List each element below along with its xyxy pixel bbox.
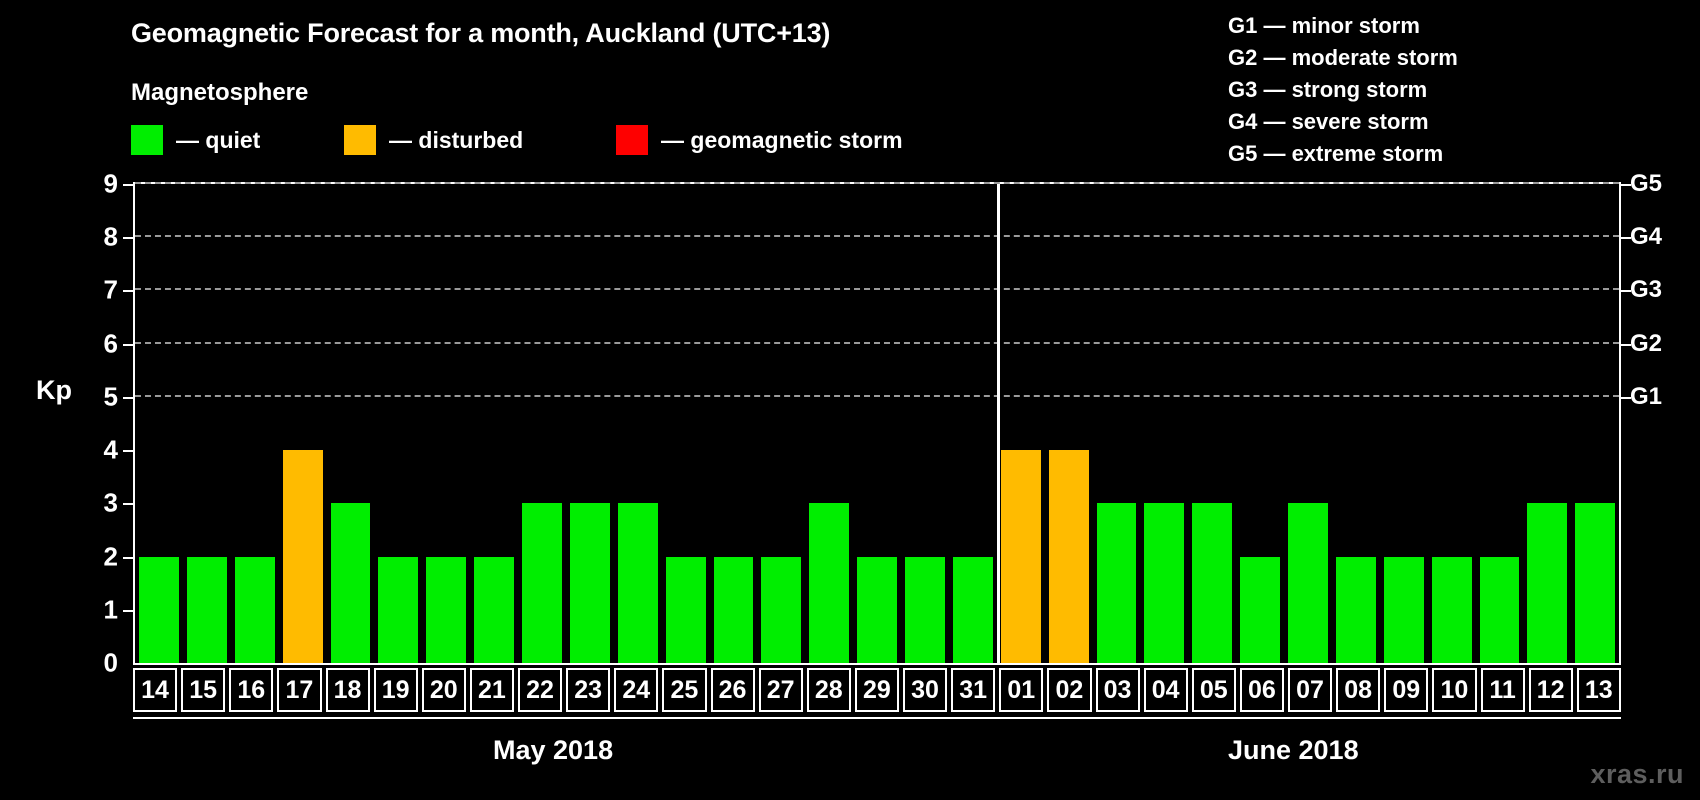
y-tick-label-4: 4: [104, 435, 118, 466]
date-label[interactable]: 08: [1336, 668, 1380, 712]
disturbed-swatch-icon: [344, 125, 376, 155]
legend-label-quiet: — quiet: [176, 127, 260, 154]
storm-swatch-icon: [616, 125, 648, 155]
bar-cell[interactable]: [1332, 184, 1380, 663]
bar[interactable]: [761, 557, 801, 663]
g-tick-label-G1: G1: [1630, 383, 1662, 411]
date-label[interactable]: 27: [759, 668, 803, 712]
bar-cell[interactable]: [805, 184, 853, 663]
bar[interactable]: [1480, 557, 1520, 663]
bar-cell[interactable]: [279, 184, 327, 663]
bar[interactable]: [1049, 450, 1089, 663]
date-label[interactable]: 19: [374, 668, 418, 712]
y-tick-label-5: 5: [104, 381, 118, 412]
date-label[interactable]: 16: [229, 668, 273, 712]
date-label[interactable]: 20: [422, 668, 466, 712]
bar[interactable]: [426, 557, 466, 663]
date-label[interactable]: 11: [1481, 668, 1525, 712]
legend-item-disturbed: — disturbed: [344, 125, 523, 155]
bar-cell[interactable]: [374, 184, 422, 663]
date-label[interactable]: 30: [903, 668, 947, 712]
page-title: Geomagnetic Forecast for a month, Auckla…: [131, 18, 830, 49]
bar[interactable]: [905, 557, 945, 663]
bar-cell[interactable]: [853, 184, 901, 663]
g-tick-label-G3: G3: [1630, 276, 1662, 304]
watermark: xras.ru: [1590, 759, 1684, 790]
g-scale-line-3: G3 — strong storm: [1228, 74, 1458, 106]
bar[interactable]: [1001, 450, 1041, 663]
y-tick-label-8: 8: [104, 222, 118, 253]
plot-area: [133, 182, 1621, 665]
bar[interactable]: [1192, 503, 1232, 663]
bar-cell[interactable]: [518, 184, 566, 663]
bar-cell[interactable]: [183, 184, 231, 663]
date-label[interactable]: 25: [662, 668, 706, 712]
legend-heading: Magnetosphere: [131, 79, 308, 107]
bar[interactable]: [570, 503, 610, 663]
bar[interactable]: [1432, 557, 1472, 663]
date-label[interactable]: 18: [326, 668, 370, 712]
bar-cell[interactable]: [135, 184, 183, 663]
bar-cell[interactable]: [1140, 184, 1188, 663]
bar-cell[interactable]: [757, 184, 805, 663]
date-label[interactable]: 03: [1096, 668, 1140, 712]
bar-cell[interactable]: [327, 184, 375, 663]
bar-cell[interactable]: [231, 184, 279, 663]
bar[interactable]: [139, 557, 179, 663]
date-label[interactable]: 22: [518, 668, 562, 712]
legend-label-storm: — geomagnetic storm: [661, 127, 903, 154]
legend-item-storm: — geomagnetic storm: [616, 125, 903, 155]
bar-cell[interactable]: [1476, 184, 1524, 663]
bar[interactable]: [714, 557, 754, 663]
bar-cell[interactable]: [1236, 184, 1284, 663]
y-axis-tick-labels: 0123456789: [60, 182, 118, 665]
plot-inner: [135, 184, 1619, 663]
bar[interactable]: [857, 557, 897, 663]
bar[interactable]: [618, 503, 658, 663]
bar[interactable]: [1240, 557, 1280, 663]
bar[interactable]: [666, 557, 706, 663]
date-label[interactable]: 26: [711, 668, 755, 712]
bar[interactable]: [187, 557, 227, 663]
bar-cell[interactable]: [1523, 184, 1571, 663]
legend-label-disturbed: — disturbed: [389, 127, 523, 154]
date-label[interactable]: 31: [951, 668, 995, 712]
bar[interactable]: [1527, 503, 1567, 663]
date-label[interactable]: 12: [1529, 668, 1573, 712]
month-label-june: June 2018: [1228, 735, 1359, 766]
date-label[interactable]: 04: [1144, 668, 1188, 712]
bar-cell[interactable]: [949, 184, 997, 663]
bar-cell[interactable]: [1428, 184, 1476, 663]
date-label[interactable]: 28: [807, 668, 851, 712]
bar[interactable]: [1288, 503, 1328, 663]
month-label-may: May 2018: [493, 735, 613, 766]
g-tick-label-G2: G2: [1630, 330, 1662, 358]
bar-series: [135, 184, 1619, 663]
bar-cell[interactable]: [470, 184, 518, 663]
g-scale-line-2: G2 — moderate storm: [1228, 42, 1458, 74]
quiet-swatch-icon: [131, 125, 163, 155]
g-tick-label-G5: G5: [1630, 170, 1662, 198]
bar-cell[interactable]: [901, 184, 949, 663]
bar[interactable]: [235, 557, 275, 663]
bar-cell[interactable]: [997, 184, 1045, 663]
bar[interactable]: [809, 503, 849, 663]
date-label[interactable]: 09: [1384, 668, 1428, 712]
date-label[interactable]: 17: [277, 668, 321, 712]
g-scale-legend: G1 — minor stormG2 — moderate stormG3 — …: [1228, 10, 1458, 170]
bar-cell[interactable]: [1571, 184, 1619, 663]
date-label[interactable]: 02: [1047, 668, 1091, 712]
y-tick-label-1: 1: [104, 594, 118, 625]
date-axis: 1415161718192021222324252627282930310102…: [133, 668, 1621, 712]
date-label[interactable]: 06: [1240, 668, 1284, 712]
date-label[interactable]: 01: [999, 668, 1043, 712]
y-tick-label-0: 0: [104, 648, 118, 679]
y-tick-label-9: 9: [104, 169, 118, 200]
bar[interactable]: [1144, 503, 1184, 663]
chart-canvas: Geomagnetic Forecast for a month, Auckla…: [0, 0, 1700, 800]
g-scale-line-4: G4 — severe storm: [1228, 106, 1458, 138]
g-tick-label-G4: G4: [1630, 223, 1662, 251]
y-tick-label-6: 6: [104, 328, 118, 359]
g-scale-line-1: G1 — minor storm: [1228, 10, 1458, 42]
bar-cell[interactable]: [1188, 184, 1236, 663]
date-label[interactable]: 13: [1577, 668, 1621, 712]
y-tick-label-3: 3: [104, 488, 118, 519]
bar[interactable]: [378, 557, 418, 663]
date-label[interactable]: 24: [614, 668, 658, 712]
date-label[interactable]: 21: [470, 668, 514, 712]
g-axis-tick-labels: G1G2G3G4G5: [1630, 182, 1696, 665]
bar[interactable]: [522, 503, 562, 663]
date-label[interactable]: 14: [133, 668, 177, 712]
bar-cell[interactable]: [1045, 184, 1093, 663]
date-label[interactable]: 15: [181, 668, 225, 712]
bar[interactable]: [953, 557, 993, 663]
date-label[interactable]: 10: [1432, 668, 1476, 712]
bar-cell[interactable]: [422, 184, 470, 663]
month-axis-rule: [133, 717, 1621, 719]
legend-item-quiet: — quiet: [131, 125, 260, 155]
bar[interactable]: [1336, 557, 1376, 663]
g-scale-line-5: G5 — extreme storm: [1228, 138, 1458, 170]
bar-cell[interactable]: [1380, 184, 1428, 663]
date-label[interactable]: 29: [855, 668, 899, 712]
bar-cell[interactable]: [614, 184, 662, 663]
bar[interactable]: [474, 557, 514, 663]
bar[interactable]: [1384, 557, 1424, 663]
bar[interactable]: [1097, 503, 1137, 663]
y-tick-label-7: 7: [104, 275, 118, 306]
bar[interactable]: [283, 450, 323, 663]
y-tick-label-2: 2: [104, 541, 118, 572]
date-label[interactable]: 05: [1192, 668, 1236, 712]
date-label[interactable]: 07: [1288, 668, 1332, 712]
bar-cell[interactable]: [1093, 184, 1141, 663]
bar[interactable]: [331, 503, 371, 663]
bar-cell[interactable]: [710, 184, 758, 663]
bar[interactable]: [1575, 503, 1615, 663]
date-label[interactable]: 23: [566, 668, 610, 712]
bar-cell[interactable]: [1284, 184, 1332, 663]
month-divider: [997, 184, 1000, 663]
bar-cell[interactable]: [662, 184, 710, 663]
bar-cell[interactable]: [566, 184, 614, 663]
